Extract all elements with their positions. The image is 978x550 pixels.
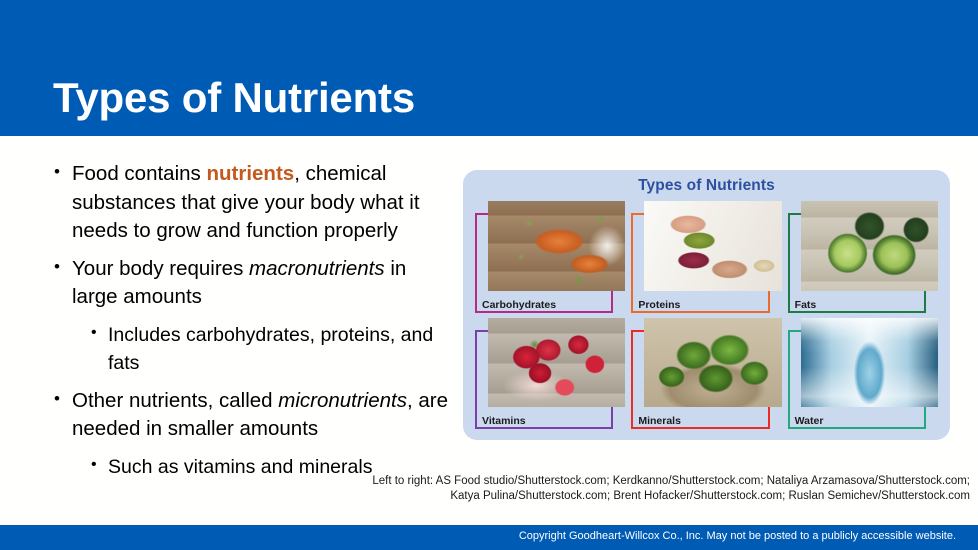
strawberries-photo — [488, 318, 625, 408]
nutrient-cell: Proteins — [631, 201, 781, 313]
nutrient-cell-label: Carbohydrates — [482, 299, 556, 311]
nutrient-cell-label: Proteins — [638, 299, 680, 311]
emphasis-term: macronutrients — [249, 257, 385, 280]
nutrient-cell: Fats — [788, 201, 938, 313]
legumes-photo — [644, 201, 781, 291]
bullet-item-level-1: Your body requires macronutrients in lar… — [50, 255, 450, 312]
sweet-potatoes-photo — [488, 201, 625, 291]
bullet-text: Your body requires — [72, 257, 249, 280]
page-title: Types of Nutrients — [53, 74, 415, 122]
legumes-photo-art — [644, 201, 781, 291]
bullet-item-level-1: Other nutrients, called micronutrients, … — [50, 387, 450, 444]
nutrient-cell: Vitamins — [475, 318, 625, 430]
broccoli-photo — [644, 318, 781, 408]
keyword-term: nutrients — [206, 162, 294, 185]
copyright-notice: Copyright Goodheart-Willcox Co., Inc. Ma… — [519, 530, 956, 542]
nutrient-cell-label: Fats — [795, 299, 817, 311]
nutrient-cell-label: Vitamins — [482, 415, 526, 427]
bullet-list: Food contains nutrients, chemical substa… — [50, 160, 450, 490]
nutrient-photo-grid: CarbohydratesProteinsFatsVitaminsMineral… — [475, 201, 938, 429]
nutrient-cell: Carbohydrates — [475, 201, 625, 313]
nutrient-cell: Minerals — [631, 318, 781, 430]
bullet-text: Other nutrients, called — [72, 389, 278, 412]
avocados-photo — [801, 201, 938, 291]
nutrient-cell-label: Minerals — [638, 415, 681, 427]
nutrients-figure-panel: Types of Nutrients CarbohydratesProteins… — [463, 170, 950, 440]
figure-title: Types of Nutrients — [463, 177, 950, 195]
broccoli-photo-art — [644, 318, 781, 408]
bullet-text: Food contains — [72, 162, 206, 185]
sweet-potatoes-photo-art — [488, 201, 625, 291]
strawberries-photo-art — [488, 318, 625, 408]
nutrient-cell-label: Water — [795, 415, 824, 427]
image-credit-line-1: Left to right: AS Food studio/Shuttersto… — [300, 474, 970, 489]
glass-of-water-photo-art — [801, 318, 938, 408]
emphasis-term: micronutrients — [278, 389, 407, 412]
bullet-item-level-2: Includes carbohydrates, proteins, and fa… — [50, 321, 450, 378]
image-credit-line-2: Katya Pulina/Shutterstock.com; Brent Hof… — [300, 489, 970, 504]
glass-of-water-photo — [801, 318, 938, 408]
image-credit: Left to right: AS Food studio/Shuttersto… — [300, 474, 970, 504]
bullet-item-level-1: Food contains nutrients, chemical substa… — [50, 160, 450, 246]
nutrient-cell: Water — [788, 318, 938, 430]
avocados-photo-art — [801, 201, 938, 291]
bullet-text: Includes carbohydrates, proteins, and fa… — [108, 324, 433, 375]
